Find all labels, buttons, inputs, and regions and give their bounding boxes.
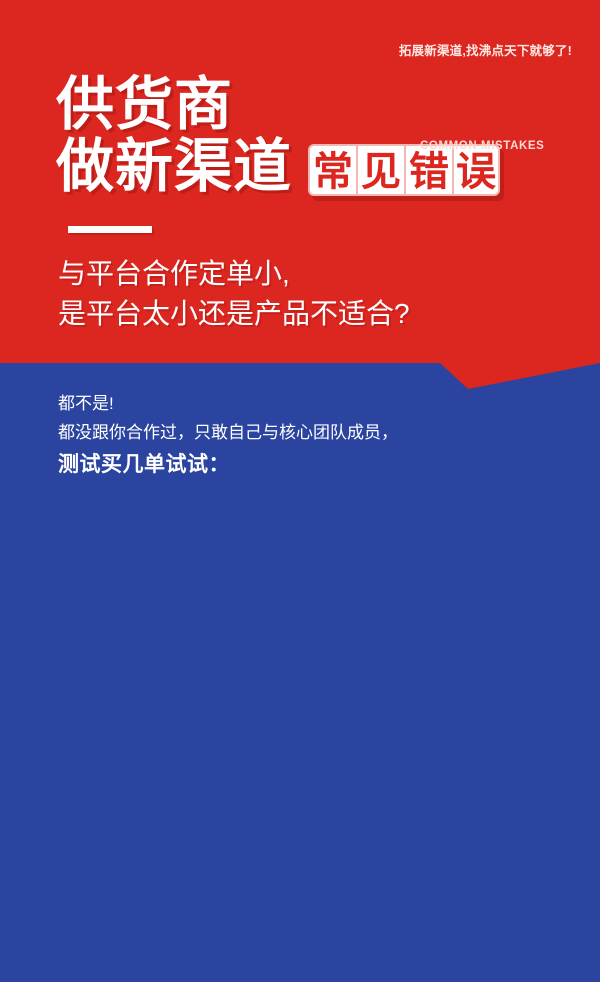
mistake-char-1: 常 — [308, 144, 356, 196]
body-blue-panel: 都不是! 都没跟你合作过，只敢自己与核心团队成员， 测试买几单试试： — [0, 363, 600, 982]
hero-divider-rule — [68, 226, 152, 233]
hero-subtitle-line-1: 与平台合作定单小, — [58, 254, 410, 294]
headline-line-2: 做新渠道 — [56, 136, 292, 198]
mistake-char-2: 见 — [356, 144, 404, 196]
intro-line-2: 都没跟你合作过，只敢自己与核心团队成员， — [58, 418, 398, 447]
hero-tagline: 拓展新渠道,找沸点天下就够了! — [399, 40, 572, 59]
intro-line-3: 测试买几单试试： — [58, 447, 398, 483]
common-mistakes-english: COMMON MISTAKES — [420, 140, 544, 152]
intro-line-1: 都不是! — [58, 389, 398, 418]
headline-block: 供货商 做新渠道 常 见 错 误 — [56, 74, 576, 198]
hero-subtitle-block: 与平台合作定单小, 是平台太小还是产品不适合? — [58, 254, 410, 334]
intro-block: 都不是! 都没跟你合作过，只敢自己与核心团队成员， 测试买几单试试： — [58, 389, 398, 483]
headline-line-1: 供货商 — [56, 74, 576, 136]
hero-subtitle-line-2: 是平台太小还是产品不适合? — [58, 294, 410, 334]
poster-canvas: 拓展新渠道,找沸点天下就够了! 供货商 做新渠道 常 见 错 误 COMMON … — [0, 0, 600, 982]
hero-red-panel: 拓展新渠道,找沸点天下就够了! 供货商 做新渠道 常 见 错 误 COMMON … — [0, 0, 600, 363]
